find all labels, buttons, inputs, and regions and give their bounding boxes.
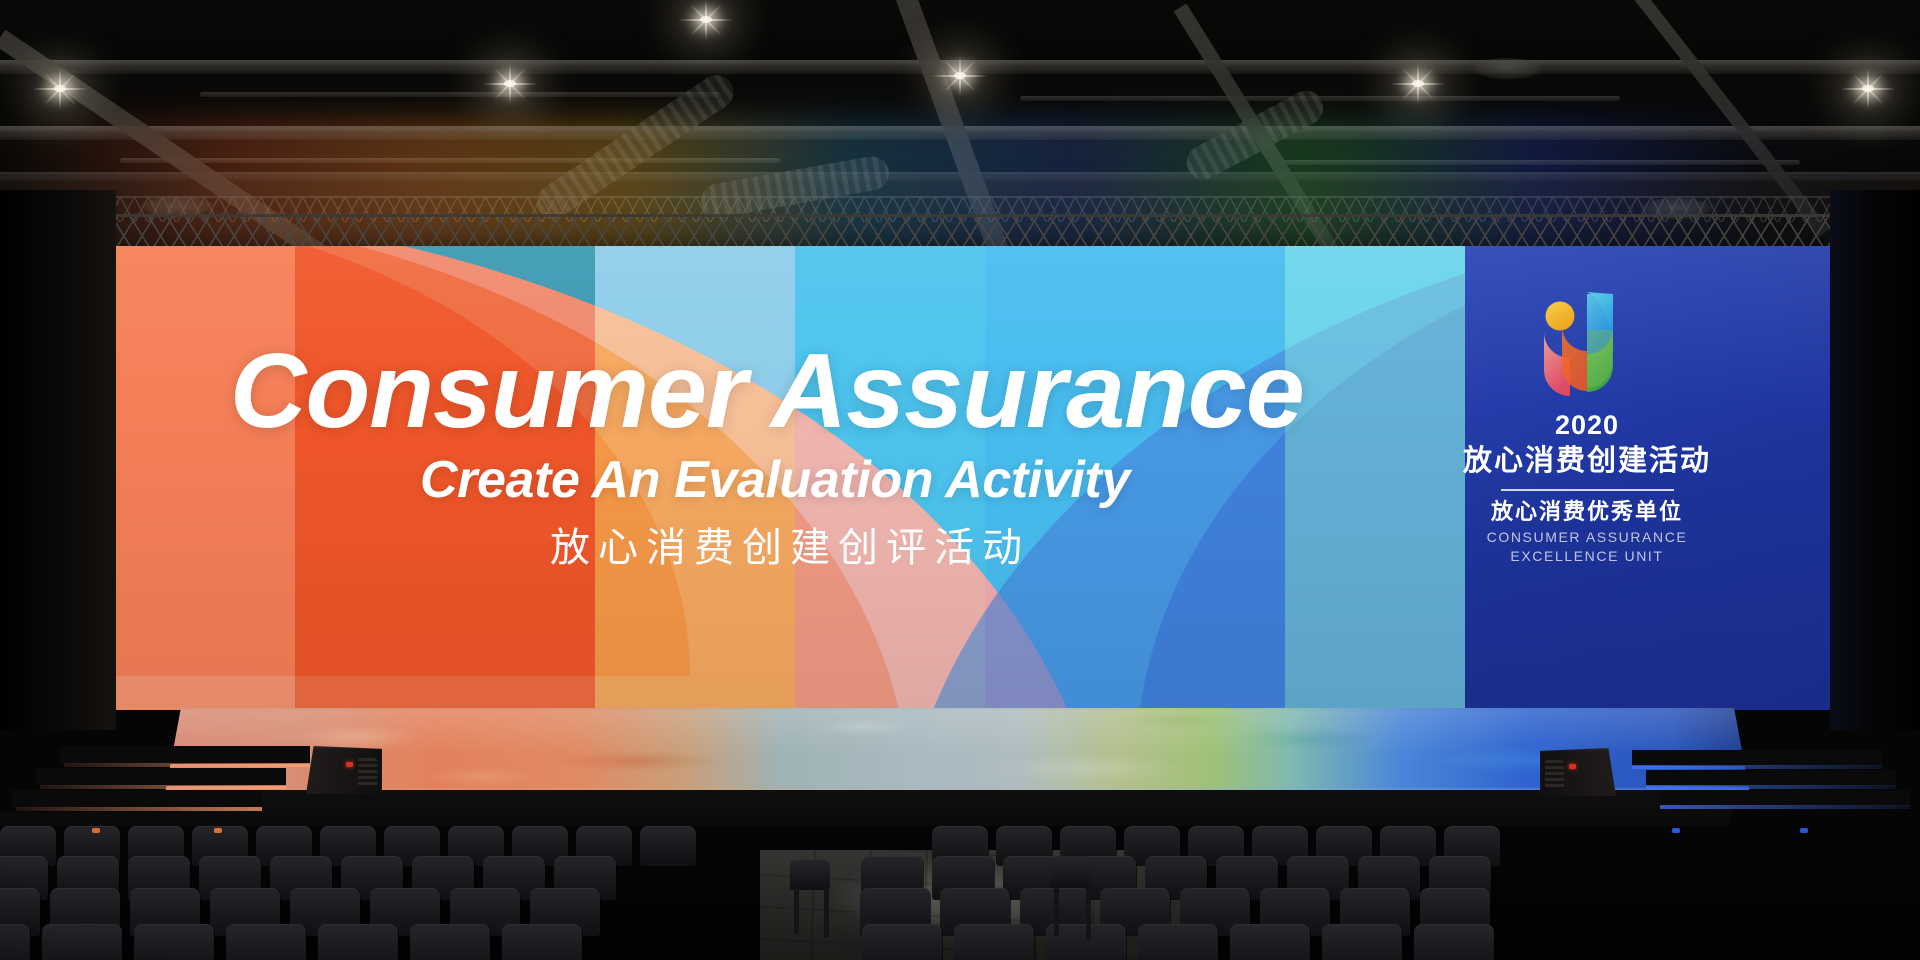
audience-seating: [0, 826, 1920, 960]
seat-light-glint: [1672, 828, 1680, 833]
seat-row: [0, 924, 1870, 960]
stage-scene: Consumer Assurance Create An Evaluation …: [0, 0, 1920, 960]
ceiling-spotlight: [1862, 85, 1874, 92]
page-title-cn: 放心消费创建创评活动: [550, 528, 1030, 568]
ceiling-spotlight: [1412, 80, 1424, 87]
logo-en-line-1: CONSUMER ASSURANCE: [1462, 528, 1712, 547]
logo-divider: [1501, 489, 1674, 491]
stage-monitor-speaker: [306, 746, 382, 794]
logo-cn-line-2: 放心消费优秀单位: [1462, 500, 1712, 524]
stage-monitor-speaker: [1540, 748, 1616, 796]
logo-cn-line-1: 放心消费创建活动: [1462, 446, 1712, 478]
page-subtitle: Create An Evaluation Activity: [420, 454, 1130, 506]
stage-floor: [165, 708, 1750, 794]
seat-light-glint: [92, 828, 100, 833]
aisle-chair: [1050, 856, 1092, 888]
event-logo-block: 2020 放心消费创建活动 放心消费优秀单位 CONSUMER ASSURANC…: [1462, 270, 1712, 566]
stage-left-wing: [0, 190, 116, 730]
ceiling-structure: [0, 0, 1920, 250]
seat-light-glint: [1800, 828, 1808, 833]
ceiling-spotlight: [700, 16, 712, 23]
backdrop-copy: Consumer Assurance Create An Evaluation …: [110, 246, 1836, 710]
tulip-logo-icon: [1528, 270, 1646, 398]
page-title: Consumer Assurance: [230, 338, 1304, 444]
ceiling-spotlight: [504, 80, 516, 87]
ceiling-spotlight: [54, 85, 66, 92]
aisle-chair: [790, 860, 830, 890]
stage-right-wing: [1830, 190, 1920, 730]
logo-year: 2020: [1462, 412, 1712, 439]
ceiling-spotlight: [954, 72, 966, 79]
logo-en-line-2: EXCELLENCE UNIT: [1462, 547, 1712, 566]
seat-light-glint: [214, 828, 222, 833]
